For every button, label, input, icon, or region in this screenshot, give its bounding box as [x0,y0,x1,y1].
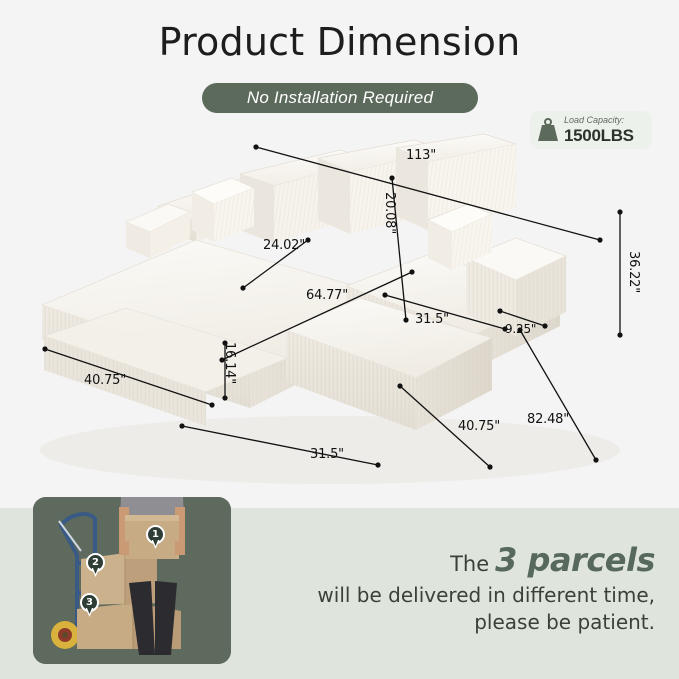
sofa-illustration [0,130,679,490]
dimension-label-ottoman-depth: 40.75" [458,419,500,434]
parcels-headline-highlight: 3 parcels [495,541,655,579]
parcels-subline-2: please be patient. [300,609,655,636]
no-installation-badge-label: No Installation Required [247,88,433,108]
dimension-label-ottoman-width: 31.5" [310,447,344,462]
dimension-label-seat-width: 31.5" [415,312,449,327]
parcels-headline: The3 parcels [300,540,655,580]
dimension-label-back-height: 20.08" [382,192,397,234]
dimension-label-chaise-length: 64.77" [306,288,348,303]
throw-pillow-left [192,178,254,242]
load-capacity-label: Load Capacity: [564,116,634,125]
dimension-label-overall-width: 113" [406,148,436,163]
no-installation-badge: No Installation Required [202,83,478,113]
parcels-message: The3 parcels will be delivered in differ… [300,540,655,636]
parcel-pin-2: 2 [86,553,105,577]
parcel-pin-3: 3 [80,593,99,617]
dimension-label-overall-height: 36.22" [626,251,641,293]
parcels-photo: 1 2 3 [33,497,231,664]
dimension-label-module-depth-left: 40.75" [84,373,126,388]
page-title: Product Dimension [0,20,679,64]
dimension-label-armrest-width: 9.25" [505,322,536,336]
parcel-pin-1: 1 [146,525,165,549]
dimension-label-overall-depth: 82.48" [527,412,569,427]
parcels-headline-prefix: The [450,552,489,576]
dimension-label-seat-height: 16.14" [222,342,237,384]
dimension-label-chaise-seat-depth: 24.02" [263,238,305,253]
infographic-canvas: Product Dimension No Installation Requir… [0,0,679,679]
parcels-subline-1: will be delivered in different time, [300,582,655,609]
